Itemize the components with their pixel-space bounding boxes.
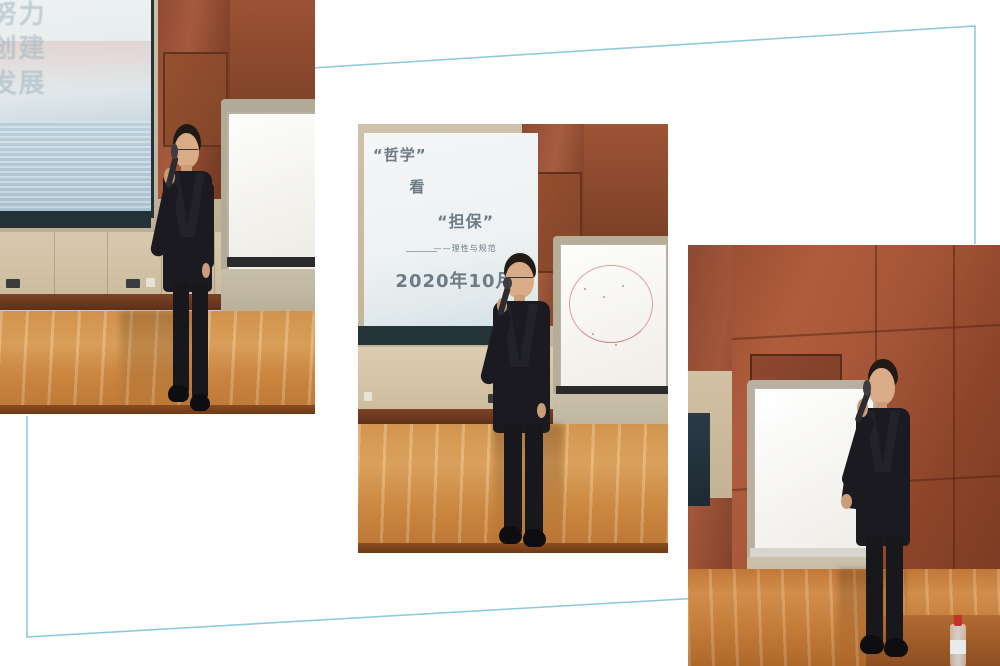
photo-speaker-center[interactable]: “哲学” 看 “担保” ——理性与规范 2020年10月 bbox=[358, 124, 668, 553]
leg-right bbox=[886, 537, 903, 651]
shoe-left bbox=[860, 635, 884, 653]
photo-center-scene: “哲学” 看 “担保” ——理性与规范 2020年10月 bbox=[358, 124, 668, 553]
shoe-right bbox=[884, 638, 908, 656]
speaker-figure bbox=[838, 359, 938, 666]
screen-water-image bbox=[0, 121, 151, 215]
slide-line-3: “担保” bbox=[437, 208, 494, 232]
shoe-left bbox=[499, 526, 522, 544]
wall-outlet-2 bbox=[126, 279, 140, 288]
arm-right bbox=[536, 313, 550, 409]
wall-seam-vertical-2 bbox=[953, 245, 955, 573]
whiteboard-drawing bbox=[569, 265, 653, 343]
screen-text-line-1: 努力 bbox=[0, 0, 47, 31]
leg-right bbox=[525, 424, 543, 538]
glasses bbox=[175, 149, 199, 150]
leg-left bbox=[173, 284, 189, 394]
dark-curtain bbox=[688, 413, 710, 506]
projection-screen: 努力 创建 发展 bbox=[0, 0, 151, 215]
microphone-head bbox=[863, 380, 871, 395]
photo-right-scene bbox=[688, 245, 1000, 666]
leg-right bbox=[192, 284, 208, 400]
hand-right bbox=[841, 494, 852, 509]
speaker-figure bbox=[476, 253, 581, 553]
shoe-right bbox=[523, 529, 546, 547]
arm-right bbox=[201, 182, 214, 269]
bottle-cap bbox=[954, 615, 962, 626]
leg-left bbox=[866, 537, 883, 648]
whiteboard-glare bbox=[758, 399, 795, 422]
wood-wall-panel-upper bbox=[584, 124, 668, 236]
slide-line-1: “哲学” bbox=[373, 144, 427, 165]
screen-bottom-bar bbox=[0, 211, 151, 228]
bottle-label bbox=[950, 640, 966, 654]
collage-canvas: 努力 创建 发展 bbox=[0, 0, 1000, 666]
microphone-head bbox=[503, 277, 511, 289]
wall-outlet-1 bbox=[6, 279, 20, 288]
photo-speaker-right[interactable] bbox=[688, 245, 1000, 666]
screen-text-line-3: 发展 bbox=[0, 63, 47, 100]
screen-text-line-2: 创建 bbox=[0, 28, 47, 65]
head bbox=[868, 368, 895, 405]
leg-left bbox=[504, 424, 522, 535]
shoe-left bbox=[168, 385, 189, 402]
shoe-right bbox=[190, 394, 211, 411]
slide-line-2: 看 bbox=[409, 176, 425, 197]
slide-divider bbox=[406, 251, 437, 252]
photo-speaker-podium-left[interactable]: 努力 创建 发展 bbox=[0, 0, 315, 414]
water-bottle bbox=[950, 624, 966, 666]
wall-outlet-white bbox=[364, 392, 372, 401]
speaker-figure bbox=[148, 124, 243, 414]
photo-left-scene: 努力 创建 发展 bbox=[0, 0, 315, 414]
